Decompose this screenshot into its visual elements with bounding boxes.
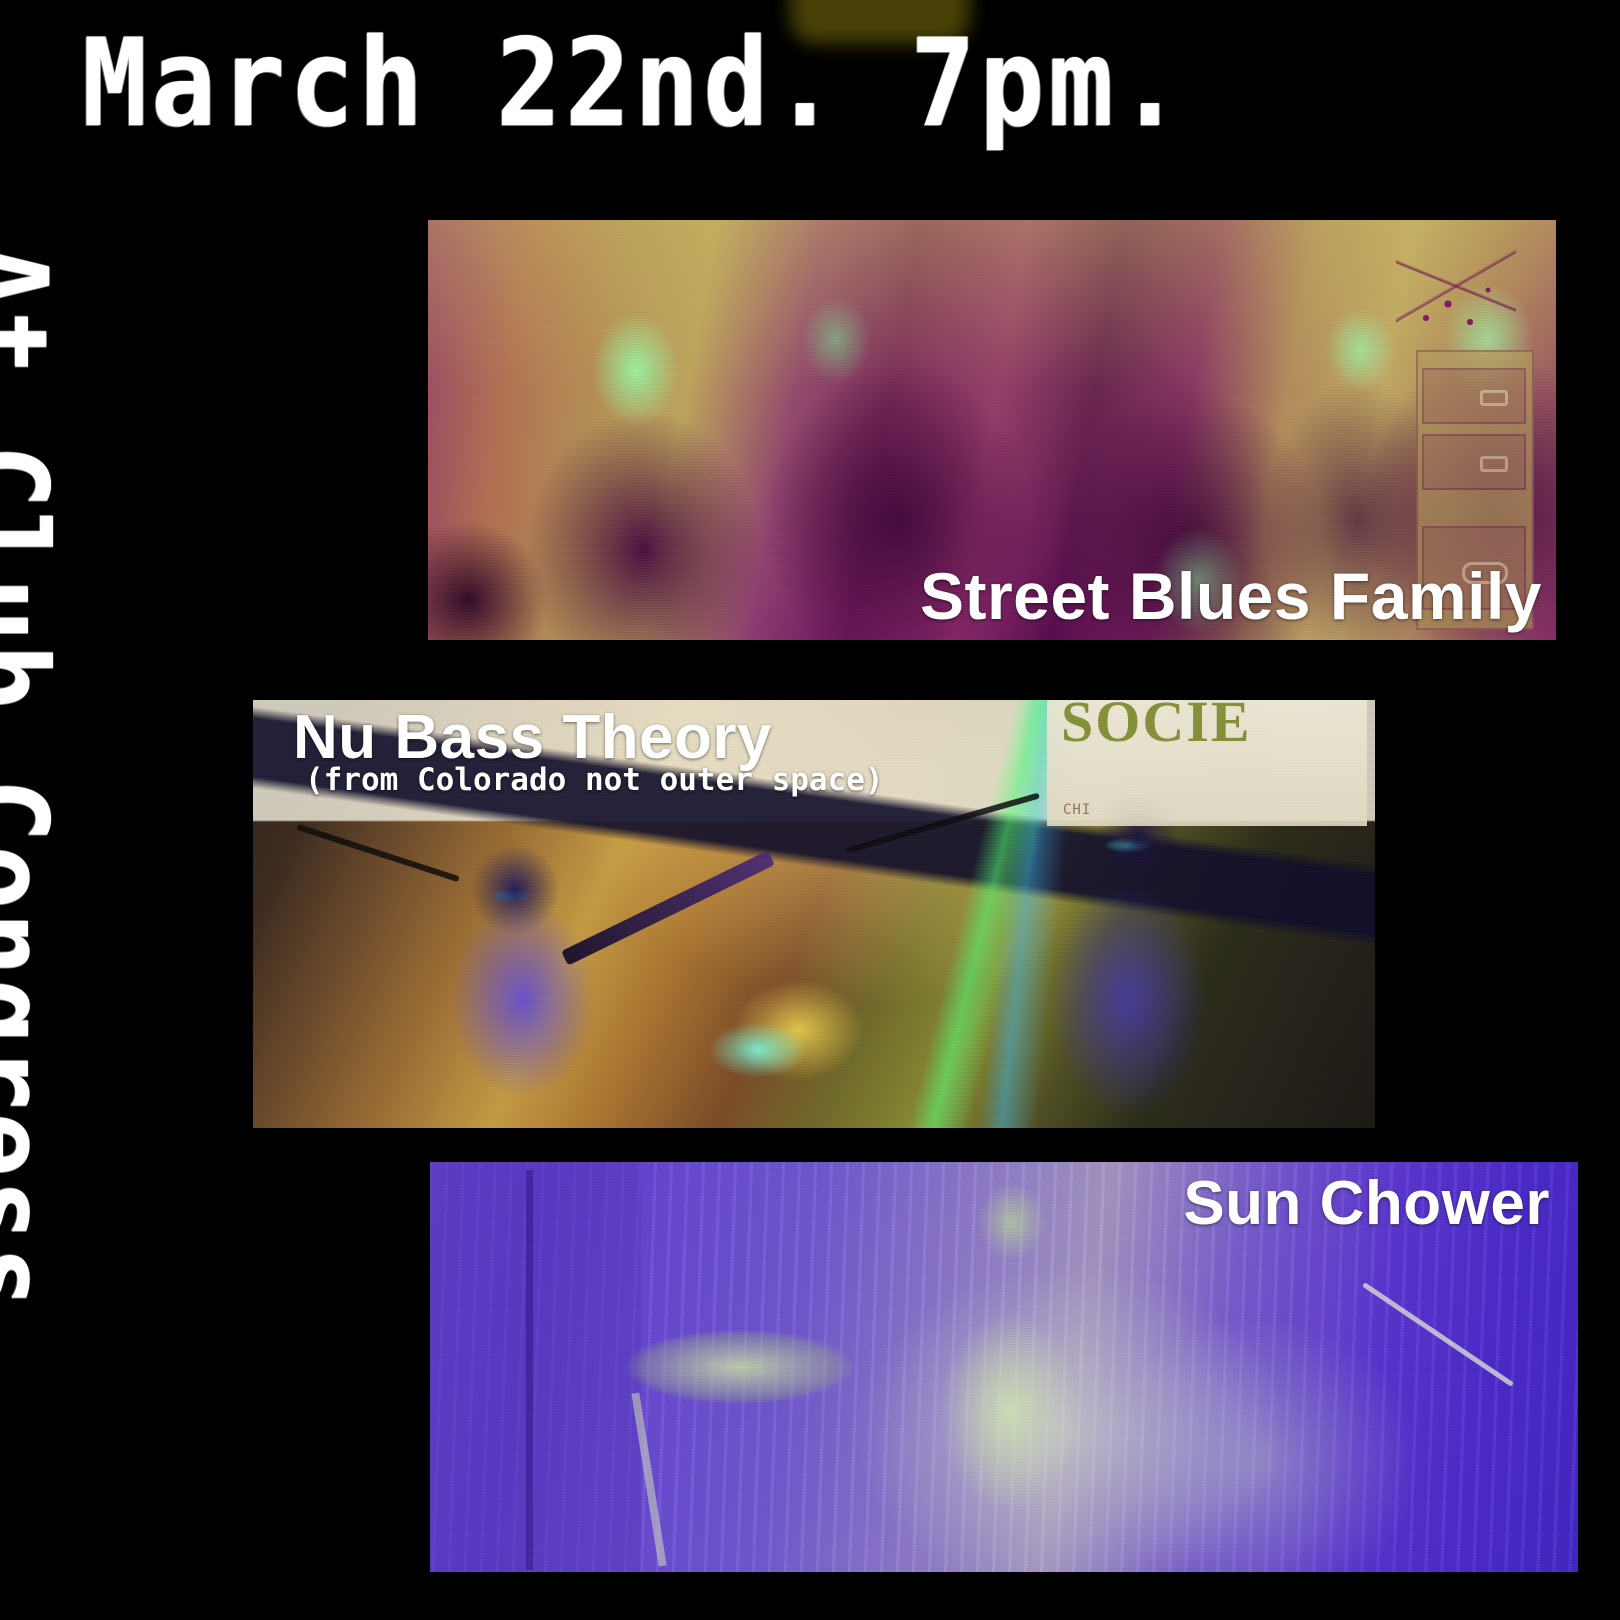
plant-sprig-decoration [1396, 230, 1516, 340]
stage-banner-text: SOCIE [1061, 700, 1252, 749]
venue-line: At Club Congress [0, 240, 62, 1313]
band-name-street-blues-family: Street Blues Family [920, 558, 1542, 634]
venue-line-wrapper: At Club Congress [62, 240, 182, 1580]
houseplant-decoration [428, 480, 568, 640]
concert-poster: March 22nd. 7pm. At Club Congress Street… [0, 0, 1620, 1620]
band-subtitle-nu-bass-theory: (from Colorado not outer space) [305, 762, 884, 798]
lineup-photo-street-blues-family[interactable]: Street Blues Family [428, 220, 1556, 640]
stage-backdrop-banner: SOCIE CHI [1047, 700, 1367, 826]
band-name-sun-chower: Sun Chower [1183, 1168, 1550, 1239]
lineup-photo-nu-bass-theory[interactable]: SOCIE CHI Nu Bass Theory (from Colorado … [253, 700, 1375, 1128]
microphone-pole [526, 1170, 533, 1570]
lineup-photo-sun-chower[interactable]: Sun Chower [430, 1162, 1578, 1572]
stage-banner-subtext: CHI [1063, 802, 1091, 818]
page-title: March 22nd. 7pm. [82, 14, 1186, 154]
